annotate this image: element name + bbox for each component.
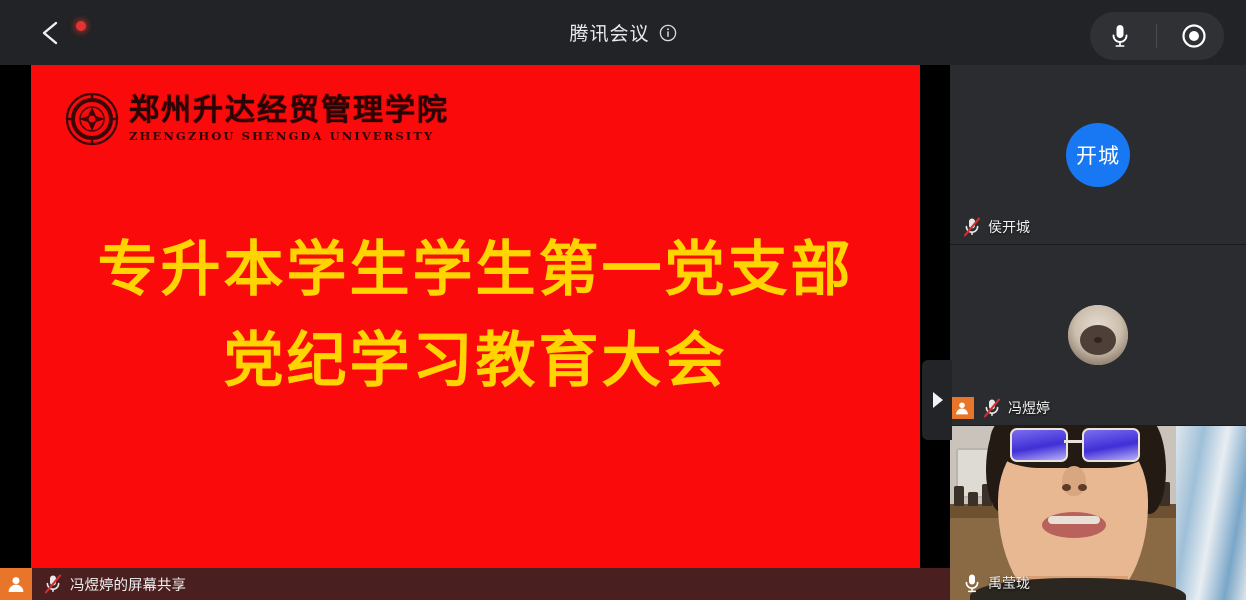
screen-share-label: 冯煜婷的屏幕共享 [70,574,186,595]
microphone-button[interactable] [1097,16,1143,56]
microphone-icon [962,572,982,594]
participant-name: 冯煜婷 [1008,398,1050,418]
camera-button[interactable] [1171,16,1217,56]
meeting-window: 腾讯会议 [0,0,1246,600]
presentation-slide: 郑州升达经贸管理学院 ZHENGZHOU SHENGDA UNIVERSITY … [31,65,920,569]
user-badge-icon [950,397,974,419]
avatar: 开城 [1066,123,1130,187]
university-logo: 郑州升达经贸管理学院 ZHENGZHOU SHENGDA UNIVERSITY [65,92,449,146]
title-area: 腾讯会议 [0,0,1246,65]
participant-tile[interactable]: 冯煜婷 [950,245,1246,425]
page-title: 腾讯会议 [569,19,649,46]
camera-icon [1181,23,1207,49]
slide-title-line-1: 专升本学生学生第一党支部 [31,225,920,316]
back-chevron-icon [40,20,62,46]
slide-title: 专升本学生学生第一党支部 党纪学习教育大会 [31,225,920,407]
expand-panel-button[interactable] [922,360,952,440]
muted-microphone-icon [982,397,1002,419]
university-name-en: ZHENGZHOU SHENGDA UNIVERSITY [129,131,449,143]
muted-microphone-icon [962,216,982,238]
university-seal-icon [65,92,119,146]
university-logo-text: 郑州升达经贸管理学院 ZHENGZHOU SHENGDA UNIVERSITY [129,96,449,143]
shared-screen-stage[interactable]: 郑州升达经贸管理学院 ZHENGZHOU SHENGDA UNIVERSITY … [0,65,950,600]
muted-microphone-icon [44,574,62,594]
microphone-icon [1109,22,1131,50]
participant-tile[interactable]: 禹莹珑 [950,426,1246,600]
user-badge-icon [0,568,32,600]
badge-spacer [950,572,962,594]
avatar-photo-image [1068,305,1128,365]
pill-divider [1156,24,1157,48]
chevron-right-icon [930,391,944,409]
university-name-cn: 郑州升达经贸管理学院 [129,96,449,126]
info-icon[interactable] [659,24,677,42]
slide-title-line-2: 党纪学习教育大会 [31,316,920,407]
top-bar: 腾讯会议 [0,0,1246,65]
participant-nameplate: 禹莹珑 [950,572,1030,594]
back-button[interactable] [36,18,66,48]
participants-panel: 开城 侯开城 [950,65,1246,600]
recording-indicator-dot [76,21,86,31]
participant-nameplate: 冯煜婷 [950,397,1050,419]
participant-nameplate: 侯开城 [950,216,1030,238]
meeting-controls-pill [1090,12,1224,60]
badge-spacer [950,216,962,238]
participant-name: 禹莹珑 [988,573,1030,593]
screen-share-status-bar: 冯煜婷的屏幕共享 [0,568,950,600]
avatar [1068,305,1128,365]
participant-tile[interactable]: 开城 侯开城 [950,65,1246,245]
participant-name: 侯开城 [988,217,1030,237]
